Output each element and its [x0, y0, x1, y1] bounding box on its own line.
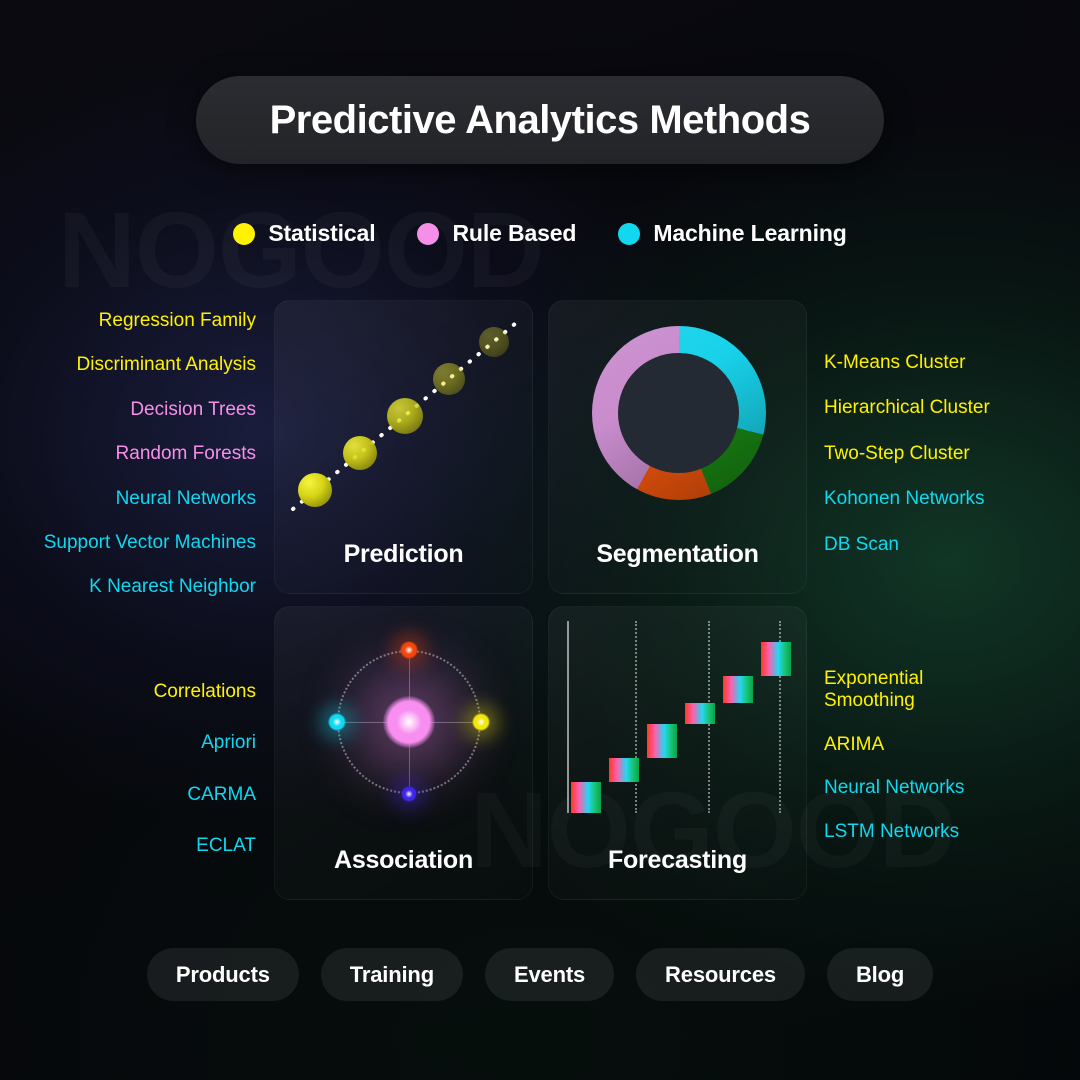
legend-label: Machine Learning: [653, 220, 846, 247]
card-forecasting[interactable]: Forecasting: [548, 606, 807, 900]
method-list-forecasting: Exponential SmoothingARIMANeural Network…: [824, 668, 964, 843]
method-list-segmentation: K-Means ClusterHierarchical ClusterTwo-S…: [824, 352, 990, 556]
legend-item-statistical[interactable]: Statistical: [233, 220, 375, 247]
method-label[interactable]: Apriori: [201, 732, 256, 754]
legend-dot-icon: [618, 223, 640, 245]
network-node-satellite-right: [472, 713, 490, 731]
method-label[interactable]: Support Vector Machines: [44, 532, 256, 554]
method-label[interactable]: K-Means Cluster: [824, 352, 966, 374]
legend-label: Rule Based: [452, 220, 576, 247]
method-label[interactable]: Neural Networks: [824, 777, 964, 799]
method-label[interactable]: Discriminant Analysis: [77, 354, 257, 376]
forecasting-waterfall-chart: [549, 607, 806, 835]
method-label[interactable]: K Nearest Neighbor: [89, 576, 256, 598]
page-title: Predictive Analytics Methods: [270, 98, 811, 143]
network-node-satellite-left: [328, 713, 346, 731]
method-label[interactable]: Random Forests: [116, 443, 256, 465]
method-label[interactable]: LSTM Networks: [824, 821, 959, 843]
network-node-satellite-top: [400, 641, 418, 659]
method-label[interactable]: Correlations: [154, 681, 256, 703]
legend-item-rule-based[interactable]: Rule Based: [417, 220, 576, 247]
network-node-satellite-bottom: [401, 786, 417, 802]
method-label[interactable]: Two-Step Cluster: [824, 443, 970, 465]
card-title-association: Association: [275, 846, 532, 875]
legend-dot-icon: [233, 223, 255, 245]
nav-pill-events[interactable]: Events: [485, 948, 614, 1001]
method-label[interactable]: ARIMA: [824, 734, 884, 756]
gridline: [635, 621, 637, 813]
donut-hole: [618, 353, 738, 473]
method-label[interactable]: Exponential Smoothing: [824, 668, 923, 713]
infographic-canvas: NOGOOD NOGOOD Predictive Analytics Metho…: [0, 0, 1080, 1080]
card-title-prediction: Prediction: [275, 540, 532, 569]
waterfall-bar: [761, 642, 791, 676]
method-label[interactable]: Kohonen Networks: [824, 488, 985, 510]
nav-pill-products[interactable]: Products: [147, 948, 299, 1001]
waterfall-bar: [571, 782, 601, 813]
title-pill: Predictive Analytics Methods: [196, 76, 884, 164]
waterfall-bar: [647, 724, 677, 758]
nav-pill-training[interactable]: Training: [321, 948, 463, 1001]
method-label[interactable]: ECLAT: [196, 835, 256, 857]
legend: StatisticalRule BasedMachine Learning: [0, 220, 1080, 247]
method-list-association: CorrelationsAprioriCARMAECLAT: [154, 681, 256, 858]
association-network-chart: [275, 607, 532, 835]
data-point-sphere: [479, 327, 509, 357]
network-node-center: [383, 696, 435, 748]
y-axis: [567, 621, 569, 813]
card-segmentation[interactable]: Segmentation: [548, 300, 807, 594]
method-label[interactable]: Decision Trees: [130, 399, 256, 421]
card-title-segmentation: Segmentation: [549, 540, 806, 569]
waterfall-bar: [723, 676, 753, 703]
nav-pill-blog[interactable]: Blog: [827, 948, 933, 1001]
method-label[interactable]: Neural Networks: [116, 488, 256, 510]
data-point-sphere: [343, 436, 377, 470]
legend-item-machine-learning[interactable]: Machine Learning: [618, 220, 846, 247]
data-point-sphere: [387, 398, 423, 434]
method-list-prediction: Regression FamilyDiscriminant AnalysisDe…: [44, 310, 256, 599]
prediction-scatter-chart: [275, 301, 532, 529]
footer-nav: ProductsTrainingEventsResourcesBlog: [0, 948, 1080, 1001]
nav-pill-resources[interactable]: Resources: [636, 948, 805, 1001]
card-association[interactable]: Association: [274, 606, 533, 900]
method-label[interactable]: Regression Family: [99, 310, 256, 332]
background-watermark: NOGOOD: [58, 196, 544, 304]
waterfall-bar: [685, 703, 715, 724]
data-point-sphere: [433, 363, 465, 395]
waterfall-bar: [609, 758, 639, 782]
card-title-forecasting: Forecasting: [549, 846, 806, 875]
method-label[interactable]: Hierarchical Cluster: [824, 397, 990, 419]
legend-label: Statistical: [268, 220, 375, 247]
legend-dot-icon: [417, 223, 439, 245]
method-label[interactable]: CARMA: [187, 784, 256, 806]
method-label[interactable]: DB Scan: [824, 534, 899, 556]
segmentation-donut-chart: [549, 301, 806, 529]
card-prediction[interactable]: Prediction: [274, 300, 533, 594]
